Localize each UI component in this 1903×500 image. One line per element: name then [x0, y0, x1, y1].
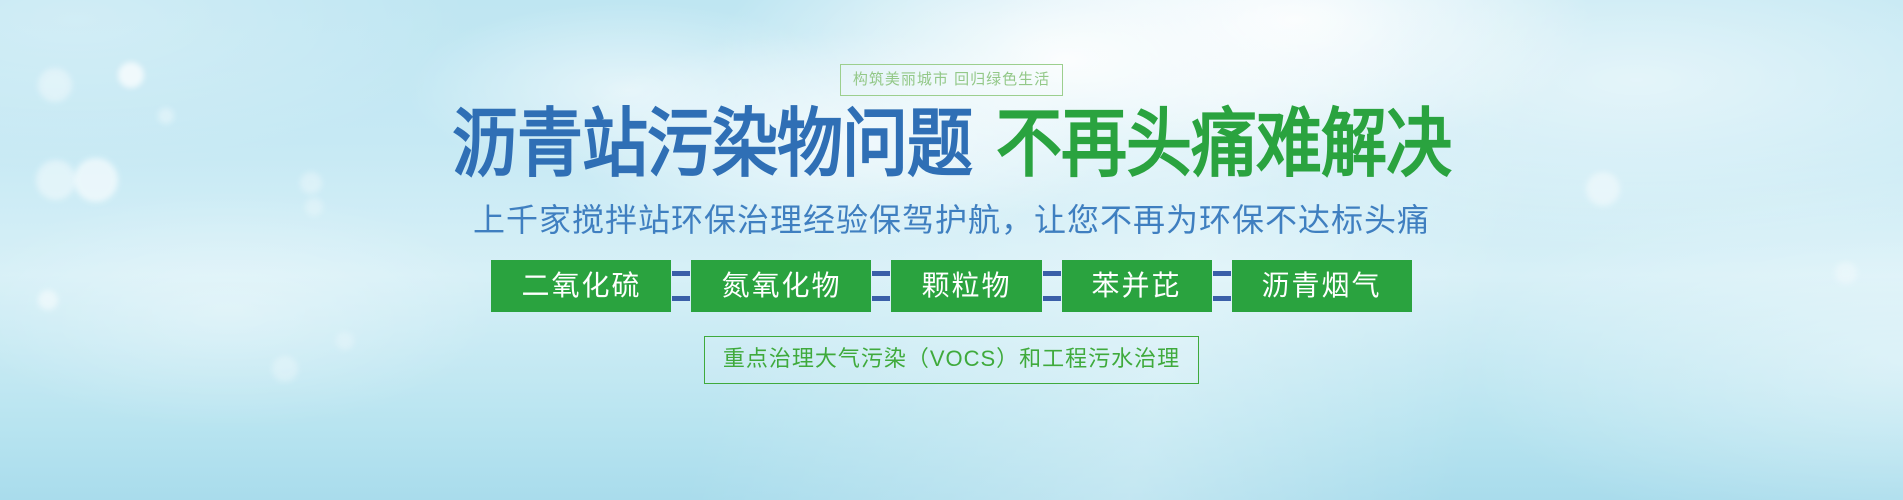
tag-item[interactable]: 苯并芘	[1062, 260, 1212, 312]
tag-item[interactable]: 沥青烟气	[1232, 260, 1412, 312]
subtitle: 上千家搅拌站环保治理经验保驾护航，让您不再为环保不达标头痛	[473, 204, 1430, 236]
headline-accent: 不再头痛难解决	[996, 107, 1451, 182]
headline: 沥青站污染物问题 不再头痛难解决	[452, 116, 1451, 182]
tag-item[interactable]: 颗粒物	[891, 260, 1041, 312]
hero-banner: 构筑美丽城市 回归绿色生活 沥青站污染物问题 不再头痛难解决 上千家搅拌站环保治…	[0, 0, 1903, 500]
tag-item[interactable]: 氮氧化物	[691, 260, 871, 312]
headline-primary: 沥青站污染物问题	[452, 107, 972, 182]
tag-separator	[1212, 260, 1232, 312]
tag-separator	[671, 260, 691, 312]
tag-item[interactable]: 二氧化硫	[491, 260, 671, 312]
pollutant-tag-list: 二氧化硫 氮氧化物 颗粒物 苯并芘 沥青烟气	[491, 260, 1411, 312]
tag-separator	[871, 260, 891, 312]
footnote-badge: 重点治理大气污染（VOCS）和工程污水治理	[704, 336, 1199, 384]
banner-content: 构筑美丽城市 回归绿色生活 沥青站污染物问题 不再头痛难解决 上千家搅拌站环保治…	[0, 0, 1903, 500]
tag-separator	[1042, 260, 1062, 312]
tagline-badge: 构筑美丽城市 回归绿色生活	[840, 64, 1063, 96]
